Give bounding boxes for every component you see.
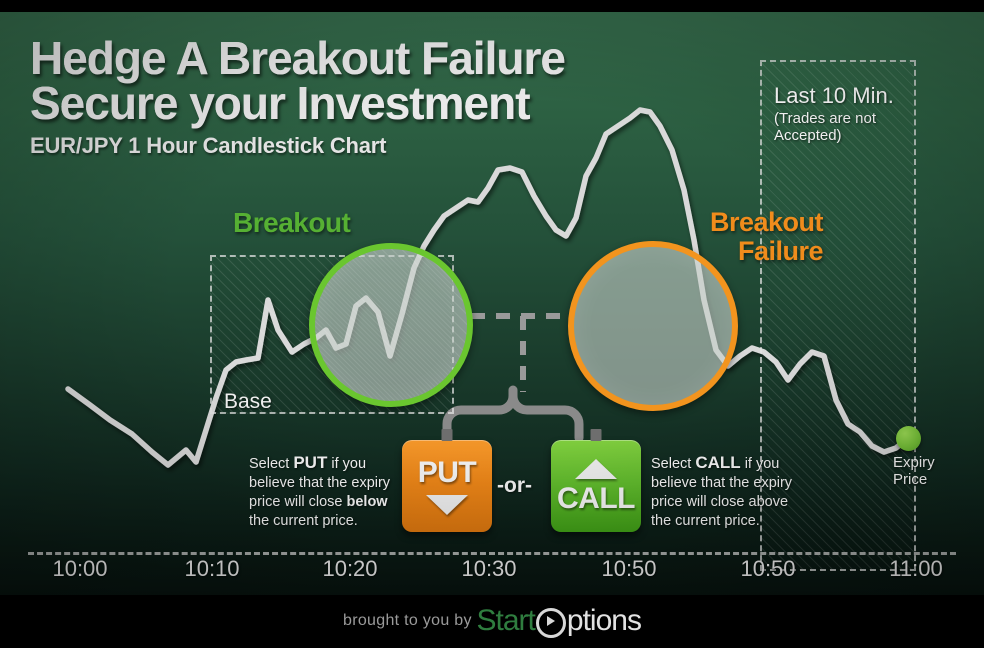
expiry-price-label-line1: Expiry <box>893 455 935 472</box>
time-axis-labels: 10:0010:1010:2010:3010:5010:5011:00 <box>0 556 984 588</box>
footer-branding: brought to you by Startptions <box>0 604 984 638</box>
last-10-min-subtitle: (Trades are not Accepted) <box>774 110 902 144</box>
footer-pre-text: brought to you by <box>343 612 477 629</box>
axis-tick-label: 10:10 <box>184 556 239 582</box>
expiry-price-dot <box>896 426 921 451</box>
play-circle-icon <box>536 608 566 638</box>
breakout-magnifier-hatch <box>315 249 467 401</box>
title-line-1: Hedge A Breakout Failure <box>30 36 730 80</box>
axis-tick-label: 10:20 <box>322 556 377 582</box>
breakout-failure-label-line1: Breakout <box>620 208 823 237</box>
last-10-min-subtitle-line2: Accepted) <box>774 127 902 144</box>
decision-brace <box>447 390 579 438</box>
breakout-magnifier <box>309 243 473 407</box>
breakout-failure-magnifier <box>568 241 738 411</box>
put-button-label: PUT <box>418 458 477 488</box>
call-description-pre: Select <box>651 456 695 472</box>
last-10-min-subtitle-line1: (Trades are not <box>774 110 902 127</box>
axis-tick-label: 10:50 <box>740 556 795 582</box>
expiry-price-label-line2: Price <box>893 472 935 489</box>
title-line-2: Secure your Investment <box>30 81 730 125</box>
arrow-up-icon <box>575 459 617 479</box>
arrow-down-icon <box>426 495 468 515</box>
time-axis-line <box>28 552 956 555</box>
base-label: Base <box>224 390 272 414</box>
breakout-label: Breakout <box>233 207 350 239</box>
breakout-failure-label-line2: Failure <box>620 237 823 266</box>
put-description-bold: below <box>347 494 388 510</box>
axis-tick-label: 10:30 <box>461 556 516 582</box>
last-10-min-text: Last 10 Min. (Trades are not Accepted) <box>774 84 902 144</box>
axis-tick-label: 10:50 <box>601 556 656 582</box>
call-button-label: CALL <box>557 484 635 514</box>
put-description-post: the current price. <box>249 513 358 529</box>
page-subtitle: EUR/JPY 1 Hour Candlestick Chart <box>30 133 730 159</box>
call-description-emphasis: CALL <box>695 453 740 472</box>
expiry-price-label: Expiry Price <box>893 455 935 489</box>
brand-options: ptions <box>567 604 641 637</box>
last-10-min-title: Last 10 Min. <box>774 84 902 107</box>
axis-tick-label: 11:00 <box>889 556 942 582</box>
put-description: Select PUT if you believe that the expir… <box>249 452 401 531</box>
put-description-emphasis: PUT <box>293 453 327 472</box>
call-button-stem <box>591 429 602 441</box>
call-description: Select CALL if you believe that the expi… <box>651 452 811 531</box>
or-separator: -or- <box>497 474 532 498</box>
page-title: Hedge A Breakout Failure Secure your Inv… <box>30 36 730 159</box>
call-button[interactable]: CALL <box>551 440 641 532</box>
put-button-stem <box>442 429 453 441</box>
infographic-canvas: Base Last 10 Min. (Trades are not Accept… <box>0 0 984 648</box>
axis-tick-label: 10:00 <box>52 556 107 582</box>
brand-start: Start <box>477 604 535 637</box>
breakout-failure-label: Breakout Failure <box>620 208 823 266</box>
put-description-pre: Select <box>249 456 293 472</box>
put-button[interactable]: PUT <box>402 440 492 532</box>
